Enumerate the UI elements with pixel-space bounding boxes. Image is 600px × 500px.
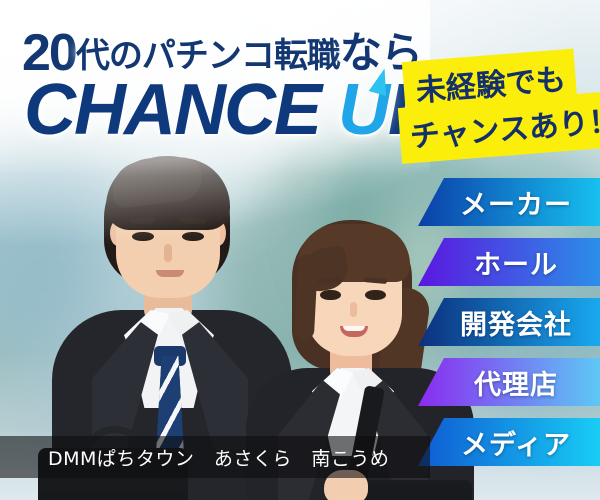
- category-button-list: メーカー ホール 開発会社 代理店 メディア: [418, 178, 600, 478]
- caption-text: DMMぱちタウン あさくら 南こうめ: [0, 444, 389, 471]
- man-mouth: [156, 270, 184, 277]
- woman-handbag: [362, 480, 472, 500]
- advertisement-banner[interactable]: 20代のパチンコ転職なら CHANCE UP 未経験でも チャンスあり！ メーカ…: [0, 0, 600, 500]
- logo-chance-up: CHANCE UP: [24, 74, 434, 146]
- category-button-agency[interactable]: 代理店: [418, 358, 600, 406]
- category-label: 代理店: [460, 363, 558, 402]
- logo-word-chance: CHANCE: [24, 70, 320, 150]
- category-label: メディア: [447, 423, 571, 462]
- woman-nose: [350, 302, 357, 317]
- category-button-developer[interactable]: 開発会社: [418, 298, 600, 346]
- category-label: ホール: [460, 243, 558, 282]
- woman-teeth: [343, 326, 365, 331]
- category-button-maker[interactable]: メーカー: [418, 178, 600, 226]
- category-label: メーカー: [446, 183, 572, 222]
- logo-letter-u-arrow-icon: U: [338, 74, 388, 146]
- woman-eye-left: [320, 290, 341, 300]
- woman-eye-right: [365, 290, 386, 300]
- category-label: 開発会社: [446, 303, 572, 342]
- category-button-hall[interactable]: ホール: [418, 238, 600, 286]
- category-button-media[interactable]: メディア: [418, 418, 600, 466]
- caption-bar: DMMぱちタウン あさくら 南こうめ: [0, 436, 430, 478]
